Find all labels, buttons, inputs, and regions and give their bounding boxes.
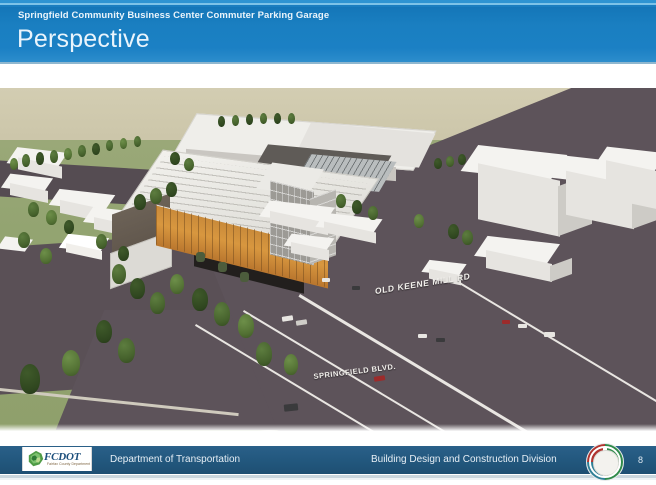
tree xyxy=(238,314,254,338)
seal-ring xyxy=(589,446,621,478)
tree xyxy=(462,230,473,245)
tree xyxy=(92,143,100,155)
tree xyxy=(78,145,86,157)
tree xyxy=(246,114,253,125)
tree xyxy=(130,278,145,299)
tree xyxy=(62,350,80,376)
aerial-rendering-image: OLD KEENE MILL RD SPRINGFIELD BLVD. AERI… xyxy=(0,88,656,432)
footer-department-label: Department of Transportation xyxy=(110,454,240,465)
fcdot-logo: FCDOT Fairfax County Department of Trans… xyxy=(22,447,92,471)
tree xyxy=(170,152,180,165)
image-bottom-fade xyxy=(0,424,656,432)
tree xyxy=(288,113,295,124)
tree xyxy=(18,232,30,248)
tree xyxy=(64,148,72,160)
presentation-slide: Springfield Community Business Center Co… xyxy=(0,0,656,485)
tree xyxy=(284,354,298,375)
rooftop-equipment xyxy=(218,262,227,272)
tree xyxy=(10,158,18,170)
tree xyxy=(170,274,184,294)
tree xyxy=(218,116,225,127)
tree xyxy=(106,140,113,151)
vehicle xyxy=(518,324,527,328)
rooftop-equipment xyxy=(196,252,205,262)
header-image-gap xyxy=(0,64,656,88)
tree xyxy=(184,158,194,171)
footer-division-label: Building Design and Construction Divisio… xyxy=(371,454,557,465)
fairfax-leaf-icon xyxy=(27,450,45,468)
tree xyxy=(118,338,135,363)
slide-header: Springfield Community Business Center Co… xyxy=(0,0,656,64)
slide-footer xyxy=(0,444,656,485)
page-title: Perspective xyxy=(17,24,150,54)
tree xyxy=(232,115,239,126)
tree xyxy=(446,156,454,167)
tree xyxy=(260,113,267,124)
tree xyxy=(134,194,146,210)
tree xyxy=(352,200,362,214)
tree xyxy=(112,264,126,284)
tree xyxy=(458,154,466,165)
tree xyxy=(96,234,107,249)
tree xyxy=(36,152,44,165)
tree xyxy=(50,150,58,163)
fairfax-county-seal xyxy=(586,443,624,481)
tree xyxy=(214,302,230,326)
fcdot-logo-subtext: Fairfax County Department of Transportat… xyxy=(47,462,92,466)
page-number: 8 xyxy=(638,455,643,465)
vehicle xyxy=(436,338,445,342)
tree xyxy=(414,214,424,228)
vehicle xyxy=(322,278,330,282)
tree xyxy=(434,158,442,169)
tree xyxy=(120,138,127,149)
tree xyxy=(64,220,74,234)
project-subtitle: Springfield Community Business Center Co… xyxy=(18,10,329,21)
tree xyxy=(368,206,378,220)
vehicle xyxy=(352,286,360,290)
tree xyxy=(150,292,165,314)
vehicle xyxy=(418,334,427,338)
tree xyxy=(166,182,177,197)
footer-bar xyxy=(0,446,656,474)
tree xyxy=(336,194,346,208)
tree xyxy=(134,136,141,147)
tree xyxy=(256,342,272,366)
tree xyxy=(40,248,52,264)
header-top-rule-inner xyxy=(0,5,656,7)
tree xyxy=(22,154,30,167)
tree xyxy=(192,288,208,311)
tree xyxy=(274,113,281,124)
tree xyxy=(28,202,39,217)
tree xyxy=(150,188,162,204)
vehicle xyxy=(502,320,510,324)
tree xyxy=(118,246,129,261)
tree xyxy=(20,364,40,394)
tree xyxy=(448,224,459,239)
rooftop-equipment xyxy=(240,272,249,282)
vehicle xyxy=(544,332,555,337)
vehicle xyxy=(284,403,299,411)
tree xyxy=(46,210,57,225)
footer-rule-lower xyxy=(0,478,656,480)
tree xyxy=(96,320,112,343)
